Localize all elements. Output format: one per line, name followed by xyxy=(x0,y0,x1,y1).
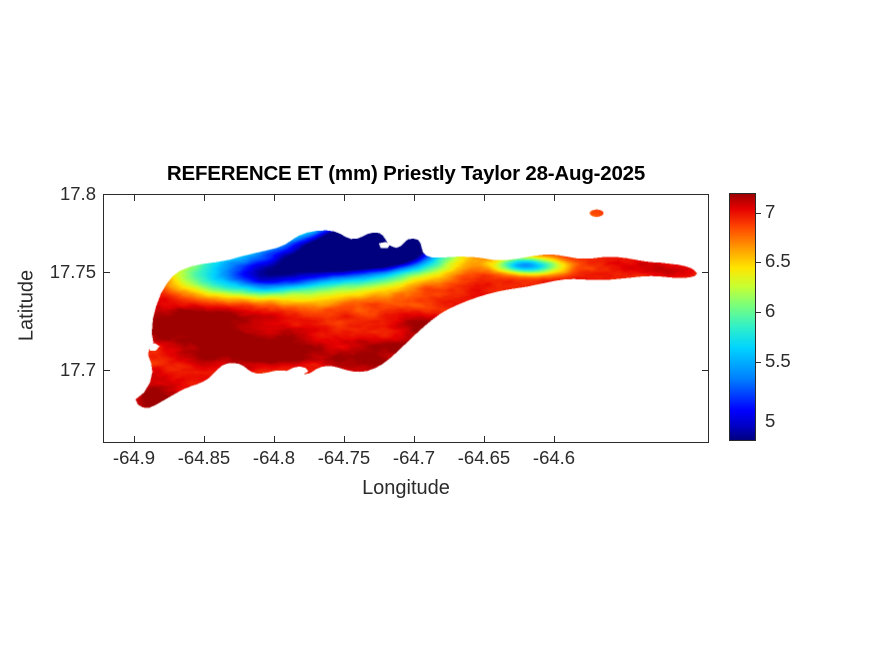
xtick-mark-top xyxy=(484,194,485,201)
xtick-mark-top xyxy=(344,194,345,201)
map-axes[interactable] xyxy=(103,194,709,443)
colorbar-tick xyxy=(756,262,761,263)
xtick-mark-top xyxy=(274,194,275,201)
colorbar-label: 5.5 xyxy=(765,352,791,371)
colorbar-label: 6.5 xyxy=(765,252,791,271)
xtick-mark xyxy=(484,436,485,443)
y-axis-title: Latitude xyxy=(16,246,39,366)
colorbar-tick xyxy=(756,312,761,313)
ytick-mark xyxy=(103,370,110,371)
xtick-mark xyxy=(204,436,205,443)
colorbar-gradient xyxy=(730,194,755,440)
xtick-mark-top xyxy=(204,194,205,201)
colorbar[interactable] xyxy=(729,193,756,441)
xtick-label: -64.6 xyxy=(499,447,609,469)
colorbar-label: 6 xyxy=(765,302,775,321)
ytick-mark-right xyxy=(702,370,709,371)
xtick-mark-top xyxy=(554,194,555,201)
x-axis-title: Longitude xyxy=(103,477,709,500)
colorbar-tick xyxy=(756,213,761,214)
xtick-mark xyxy=(274,436,275,443)
ytick-mark-right xyxy=(702,194,709,195)
reference-et-heatmap xyxy=(104,195,708,442)
ytick-mark-right xyxy=(702,272,709,273)
xtick-mark xyxy=(554,436,555,443)
ytick-mark xyxy=(103,272,110,273)
xtick-mark-top xyxy=(134,194,135,201)
ytick-label: 17.7 xyxy=(0,359,96,381)
chart-title: REFERENCE ET (mm) Priestly Taylor 28-Aug… xyxy=(103,162,709,186)
ytick-label: 17.75 xyxy=(0,261,96,283)
colorbar-label: 7 xyxy=(765,203,775,222)
xtick-mark xyxy=(344,436,345,443)
xtick-mark-top xyxy=(414,194,415,201)
figure-canvas: REFERENCE ET (mm) Priestly Taylor 28-Aug… xyxy=(0,0,875,656)
colorbar-label: 5 xyxy=(765,412,775,431)
ytick-mark xyxy=(103,194,110,195)
xtick-mark xyxy=(414,436,415,443)
xtick-mark xyxy=(134,436,135,443)
colorbar-tick xyxy=(756,362,761,363)
ytick-label: 17.8 xyxy=(0,183,96,205)
